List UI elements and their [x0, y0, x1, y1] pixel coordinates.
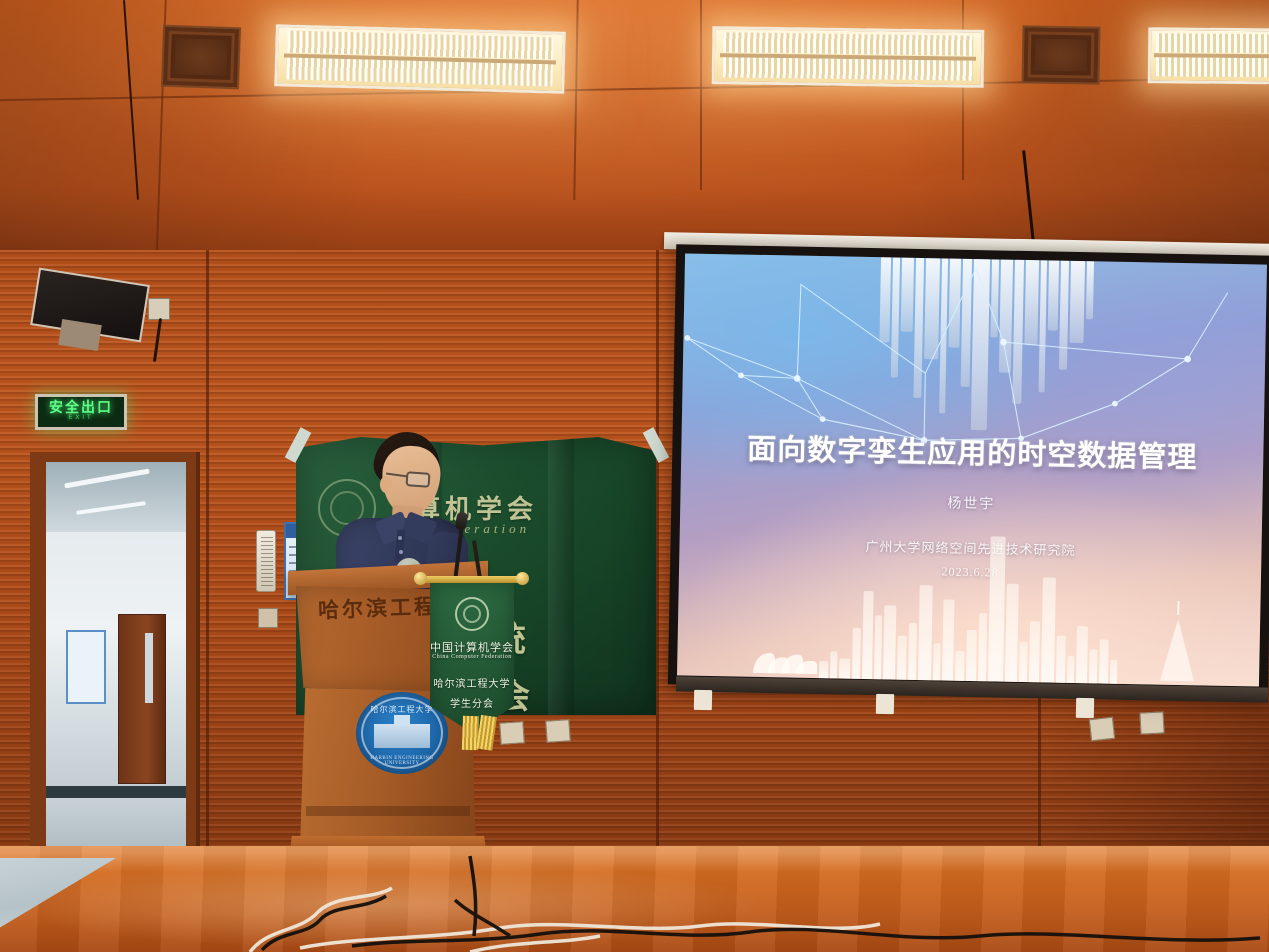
projected-slide: 面向数字孪生应用的时空数据管理 杨世宇 广州大学网络空间先进技术研究院 2023…	[677, 253, 1267, 686]
ceiling	[0, 0, 1269, 268]
ceiling-air-diffuser	[161, 25, 241, 90]
ccf-logo-icon	[455, 597, 489, 631]
ceiling-light-troffer	[274, 24, 566, 94]
wall-outlet-plate[interactable]	[499, 721, 524, 745]
pennant-line1: 中国计算机学会	[430, 639, 514, 655]
exit-sign-english-label: EXIT	[68, 414, 93, 424]
corridor-notice-board	[66, 630, 106, 704]
pennant-line4: 学生分会	[430, 695, 514, 710]
wall-switch-plate[interactable]	[258, 608, 278, 628]
wall-outlet-plate[interactable]	[1139, 711, 1164, 734]
screen-clip	[1076, 698, 1094, 718]
exit-sign-chinese-label: 安全出口	[49, 400, 113, 414]
projection-screen-frame: 面向数字孪生应用的时空数据管理 杨世宇 广州大学网络空间先进技术研究院 2023…	[668, 244, 1269, 695]
wall-thermometer-plaque	[256, 530, 276, 592]
banner-fold	[548, 437, 574, 715]
polo-button	[399, 550, 403, 554]
ceiling-light-troffer	[712, 26, 985, 88]
wall-outlet-plate[interactable]	[1089, 717, 1115, 741]
ceiling-light-troffer	[1148, 27, 1269, 85]
polo-button	[398, 536, 402, 540]
stage-cables	[0, 840, 1269, 952]
ccf-pennant-flag: 中国计算机学会 China Computer Federation 哈尔滨工程大…	[430, 583, 514, 733]
pennant-rod	[420, 576, 524, 583]
emergency-exit-sign: 安全出口 EXIT	[35, 394, 127, 430]
wall-outlet-plate[interactable]	[545, 719, 570, 743]
wall-socket	[148, 298, 170, 320]
pennant-knob	[414, 572, 427, 585]
pennant-line2: China Computer Federation	[430, 654, 514, 660]
eyeglasses-icon	[406, 471, 431, 488]
ceiling-air-diffuser	[1021, 25, 1100, 84]
podium-ledge	[306, 806, 470, 816]
screen-clip	[694, 690, 712, 710]
pennant-line3: 哈尔滨工程大学	[430, 675, 514, 690]
wall-seam	[206, 250, 209, 870]
corridor-baseboard	[46, 786, 186, 798]
presenter-ear	[380, 476, 392, 493]
ceiling-seam	[700, 0, 702, 190]
eiffel-tower-icon	[1159, 608, 1196, 681]
wall-seam	[656, 250, 659, 870]
sydney-opera-house-icon	[753, 651, 815, 674]
corridor-door	[118, 614, 166, 784]
corridor-view	[46, 462, 186, 880]
ceiling-seam	[962, 0, 964, 180]
screen-clip	[876, 694, 894, 714]
door-glass-panel	[145, 633, 153, 703]
emblem-top-text: 哈尔滨工程大学	[370, 704, 434, 715]
corridor-ceiling	[46, 462, 186, 532]
pennant-knob	[516, 572, 529, 585]
emblem-bottom-text: HARBIN ENGINEERING UNIVERSITY	[362, 756, 442, 766]
conference-hall-photo: 安全出口 EXIT 算机学会 r Federation 系统 会	[0, 0, 1269, 952]
